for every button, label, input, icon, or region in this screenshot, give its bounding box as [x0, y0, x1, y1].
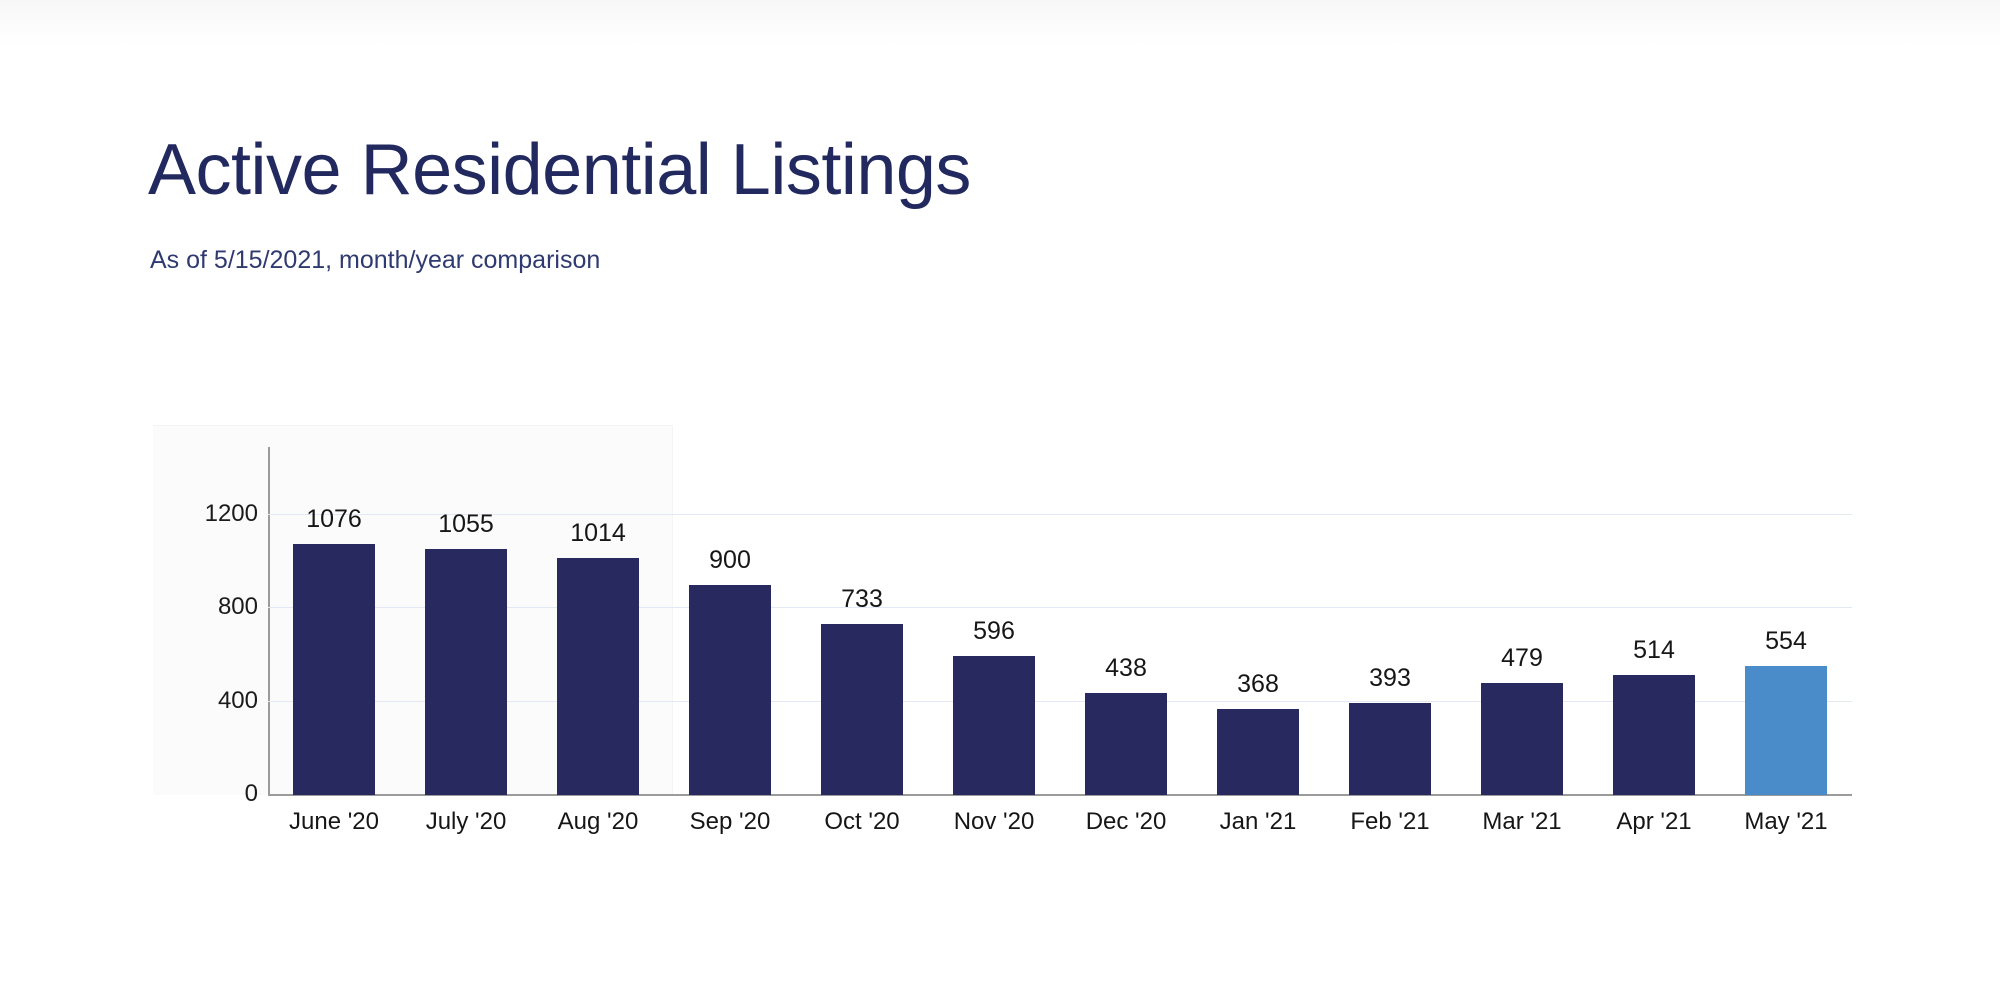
y-axis-tick-label: 1200	[168, 502, 258, 526]
bar[interactable]	[821, 624, 903, 795]
y-axis-tick-label: 400	[168, 689, 258, 713]
bar[interactable]	[953, 656, 1035, 795]
page-title: Active Residential Listings	[148, 128, 971, 212]
y-axis-tick-label: 0	[168, 782, 258, 806]
bar[interactable]	[293, 544, 375, 795]
bar-value-label: 393	[1320, 666, 1460, 691]
bar[interactable]	[1085, 693, 1167, 795]
bar-value-label: 1076	[264, 507, 404, 532]
bar[interactable]	[1217, 709, 1299, 795]
bar[interactable]	[1613, 675, 1695, 795]
bar-value-label: 479	[1452, 646, 1592, 671]
bar[interactable]	[689, 585, 771, 795]
bar-value-label: 438	[1056, 656, 1196, 681]
bar-value-label: 900	[660, 548, 800, 573]
bar-value-label: 368	[1188, 672, 1328, 697]
bar-value-label: 514	[1584, 638, 1724, 663]
bar[interactable]	[1481, 683, 1563, 795]
page-subtitle: As of 5/15/2021, month/year comparison	[150, 244, 600, 276]
bar-chart: 04008001200 June '20July '20Aug '20Sep '…	[150, 425, 1860, 855]
bar-value-label: 733	[792, 587, 932, 612]
bar-value-label: 554	[1716, 629, 1856, 654]
bar-value-label: 1055	[396, 512, 536, 537]
bar[interactable]	[557, 558, 639, 795]
bar-value-label: 596	[924, 619, 1064, 644]
y-axis-tick-label: 800	[168, 595, 258, 619]
slide-canvas: Active Residential Listings As of 5/15/2…	[0, 0, 2000, 1000]
bar[interactable]	[425, 549, 507, 795]
x-axis-tick-label: May '21	[1706, 809, 1866, 835]
bar-value-label: 1014	[528, 521, 668, 546]
bar[interactable]	[1349, 703, 1431, 795]
bar[interactable]	[1745, 666, 1827, 795]
